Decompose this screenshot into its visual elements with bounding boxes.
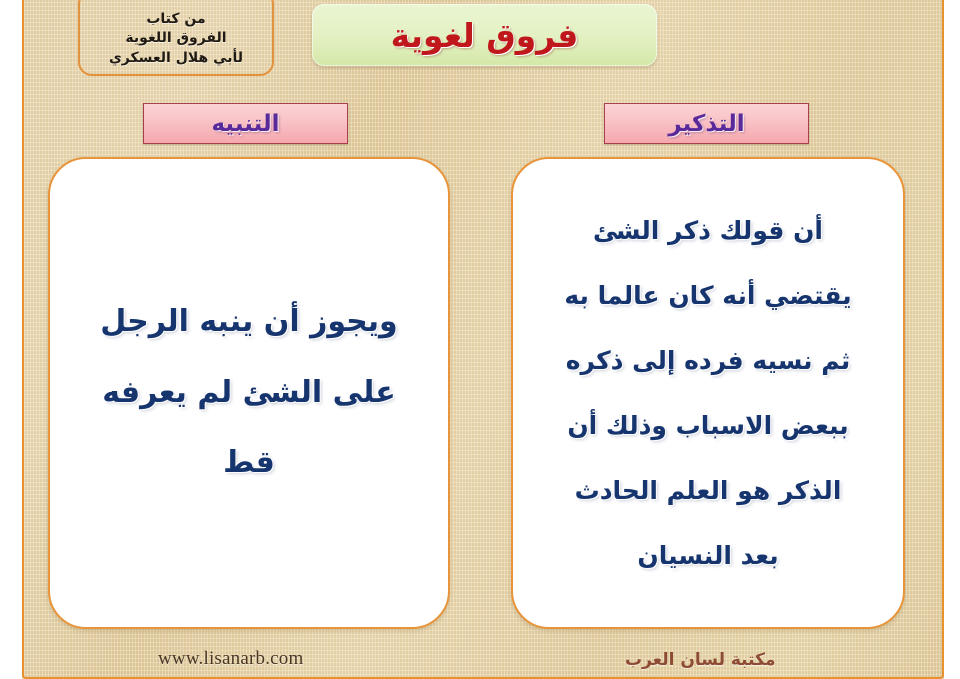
- tanbih-line-2: على الشئ لم يعرفه: [68, 358, 430, 429]
- footer-library-name: مكتبة لسان العرب: [625, 650, 775, 670]
- content-panel-tadhkir-body: أن قولك ذكر الشئ يقتضي أنه كان عالما به …: [531, 198, 885, 588]
- section-heading-tanbih: التنبيه: [143, 103, 348, 144]
- source-line-1: من كتاب: [146, 10, 205, 28]
- tanbih-line-3: قط: [68, 428, 430, 499]
- tadhkir-line-2: يقتضي أنه كان عالما به: [531, 263, 885, 328]
- source-line-2: الفروق اللغوية: [125, 29, 226, 47]
- content-panel-tanbih: ويجوز أن ينبه الرجل على الشئ لم يعرفه قط: [48, 157, 450, 629]
- source-attribution-box: من كتاب الفروق اللغوية لأبي هلال العسكري: [78, 0, 274, 76]
- footer-website[interactable]: www.lisanarb.com: [158, 648, 304, 670]
- title-banner: فروق لغوية: [312, 4, 657, 66]
- tadhkir-line-4: ببعض الاسباب وذلك أن: [531, 393, 885, 458]
- content-panel-tadhkir: أن قولك ذكر الشئ يقتضي أنه كان عالما به …: [511, 157, 905, 629]
- section-heading-tadhkir: التذكير: [604, 103, 809, 144]
- tadhkir-line-1: أن قولك ذكر الشئ: [531, 198, 885, 263]
- tadhkir-line-3: ثم نسيه فرده إلى ذكره: [531, 328, 885, 393]
- content-panel-tanbih-body: ويجوز أن ينبه الرجل على الشئ لم يعرفه قط: [68, 287, 430, 499]
- section-heading-tanbih-label: التنبيه: [211, 111, 279, 137]
- section-heading-tadhkir-label: التذكير: [668, 111, 744, 137]
- source-line-3: لأبي هلال العسكري: [109, 49, 243, 67]
- slide-canvas: من كتاب الفروق اللغوية لأبي هلال العسكري…: [0, 0, 960, 679]
- page-margin-left: [0, 0, 22, 679]
- tanbih-line-1: ويجوز أن ينبه الرجل: [68, 287, 430, 358]
- slide-title: فروق لغوية: [391, 16, 579, 55]
- page-margin-right: [944, 0, 960, 679]
- tadhkir-line-5: الذكر هو العلم الحادث: [531, 458, 885, 523]
- tadhkir-line-6: بعد النسيان: [531, 523, 885, 588]
